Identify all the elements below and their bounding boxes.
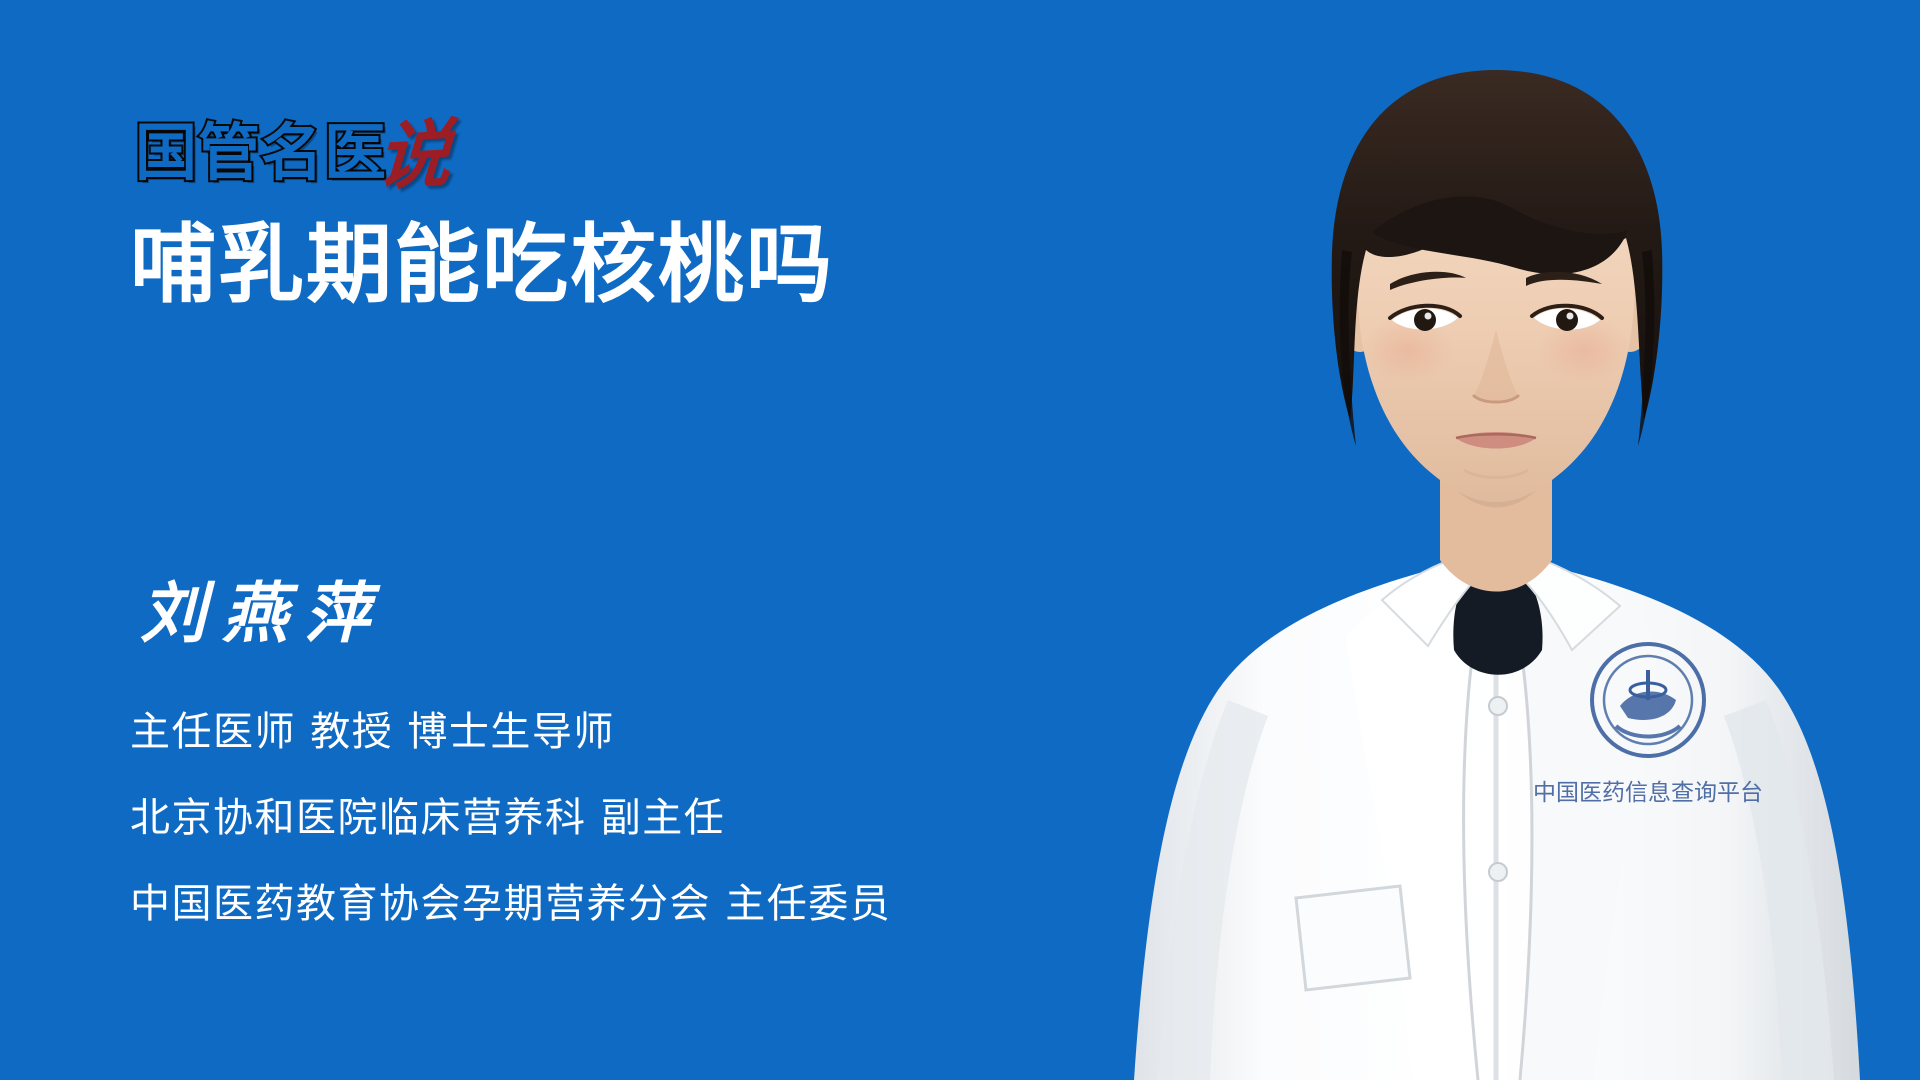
brand-logo-main-text: 国管名医 [135,123,387,184]
speaker-portrait: 中国医药信息查询平台 [1060,0,1920,1080]
brand-logo-accent-text: 说 [375,122,453,192]
coat-badge-text: 中国医药信息查询平台 [1533,780,1763,806]
doctor-head [1332,70,1663,502]
brand-logo: 国管名医 说 [135,98,451,184]
title-card-slide: 国管名医 说 哺乳期能吃核桃吗 刘燕萍 主任医师 教授 博士生导师 北京协和医院… [0,0,1920,1080]
speaker-name: 刘燕萍 [140,580,386,646]
portrait-illustration: 中国医药信息查询平台 [1060,0,1920,1080]
doctor-coat [1134,548,1860,1080]
text-column: 国管名医 说 哺乳期能吃核桃吗 刘燕萍 主任医师 教授 博士生导师 北京协和医院… [130,0,1190,1080]
speaker-credentials: 主任医师 教授 博士生导师 北京协和医院临床营养科 副主任 中国医药教育协会孕期… [130,710,891,926]
credential-line: 中国医药教育协会孕期营养分会 主任委员 [130,882,891,926]
credential-line: 北京协和医院临床营养科 副主任 [130,796,891,840]
program-title: 哺乳期能吃核桃吗 [130,220,834,311]
credential-line: 主任医师 教授 博士生导师 [130,710,891,754]
